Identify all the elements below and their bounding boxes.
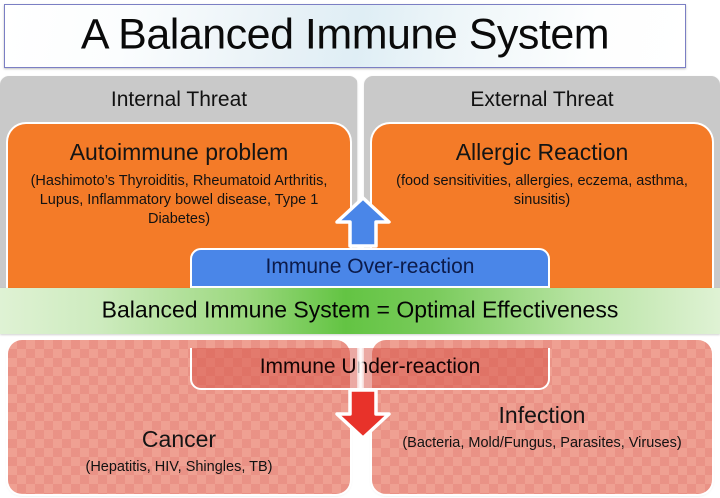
infection-examples: (Bacteria, Mold/Fungus, Parasites, Virus… — [382, 434, 702, 453]
immune-over-reaction-banner: Immune Over-reaction — [190, 248, 550, 288]
title-banner: A Balanced Immune System — [4, 4, 686, 68]
arrow-down-icon — [335, 388, 391, 440]
cancer-title: Cancer — [14, 426, 344, 453]
immune-under-reaction-banner: Immune Under-reaction — [190, 348, 550, 390]
balanced-immune-system-label: Balanced Immune System = Optimal Effecti… — [0, 296, 720, 323]
arrow-up-icon — [335, 196, 391, 248]
page-title: A Balanced Immune System — [5, 14, 685, 57]
immune-under-reaction-label: Immune Under-reaction — [192, 355, 548, 379]
infographic-canvas: A Balanced Immune System Internal Threat… — [0, 0, 720, 498]
autoimmune-problem-title: Autoimmune problem — [14, 140, 344, 165]
immune-over-reaction-label: Immune Over-reaction — [192, 255, 548, 279]
cancer-examples: (Hepatitis, HIV, Shingles, TB) — [18, 458, 340, 477]
autoimmune-problem-examples: (Hashimoto’s Thyroiditis, Rheumatoid Art… — [18, 172, 340, 229]
allergic-reaction-title: Allergic Reaction — [378, 140, 706, 165]
allergic-reaction-examples: (food sensitivities, allergies, eczema, … — [382, 172, 702, 210]
external-threat-header: External Threat — [364, 88, 720, 112]
infection-title: Infection — [378, 402, 706, 429]
balanced-immune-system-band: Balanced Immune System = Optimal Effecti… — [0, 288, 720, 334]
internal-threat-header: Internal Threat — [0, 88, 358, 112]
